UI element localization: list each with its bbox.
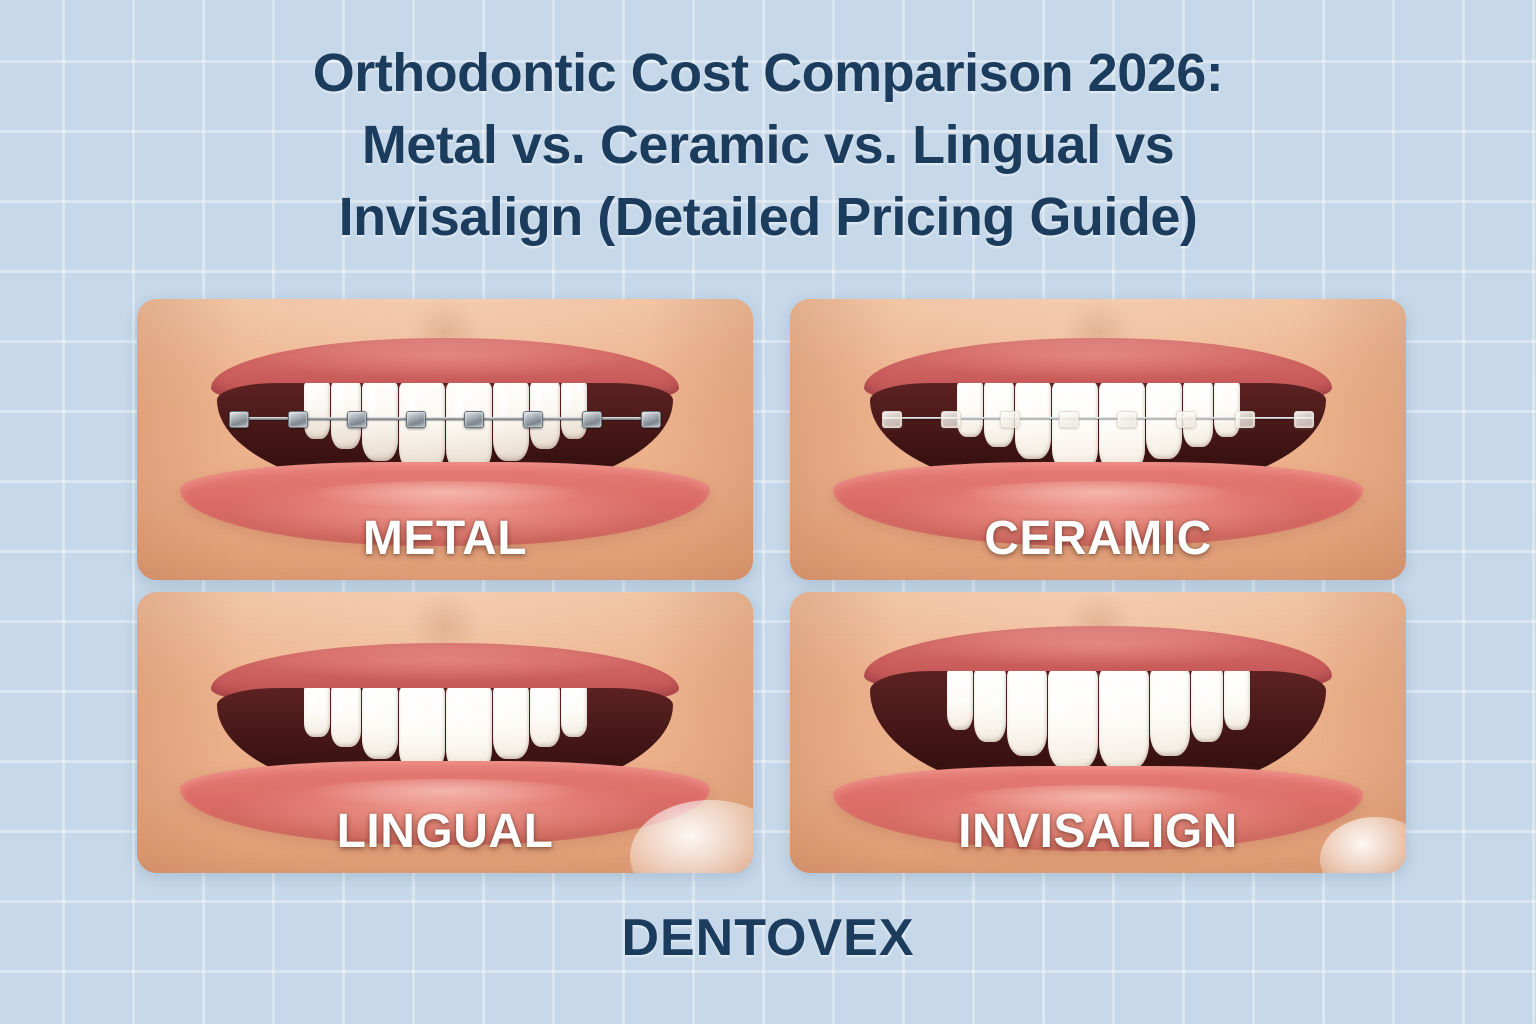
tooth (331, 688, 361, 748)
page-title-line-3: Invisalign (Detailed Pricing Guide) (0, 182, 1536, 254)
tooth (304, 688, 330, 738)
bracket-row (882, 400, 1313, 439)
bracket-icon (882, 411, 902, 428)
bracket-icon (1235, 411, 1255, 428)
tooth (1191, 671, 1223, 742)
page-title: Orthodontic Cost Comparison 2026: Metal … (0, 38, 1536, 253)
bracket-icon (523, 411, 543, 428)
comparison-card-lingual[interactable]: LINGUAL (137, 592, 753, 873)
bracket-icon (347, 411, 367, 428)
tooth (947, 671, 973, 730)
bracket-icon (1294, 411, 1314, 428)
tooth (974, 671, 1006, 742)
brand-name: DENTOVEX (0, 908, 1536, 968)
tooth (1150, 671, 1190, 756)
card-label-lingual: LINGUAL (137, 804, 753, 859)
comparison-card-invisalign[interactable]: INVISALIGN (790, 592, 1406, 873)
bracket-icon (464, 411, 484, 428)
card-label-metal: METAL (137, 511, 753, 566)
tooth (1048, 671, 1098, 770)
bracket-icon (582, 411, 602, 428)
bracket-icon (1059, 411, 1079, 428)
card-label-invisalign: INVISALIGN (790, 804, 1406, 859)
bracket-icon (641, 411, 661, 428)
page-title-line-1: Orthodontic Cost Comparison 2026: (0, 38, 1536, 110)
tooth (1224, 671, 1250, 730)
tooth (1007, 671, 1047, 756)
infographic-stage: Orthodontic Cost Comparison 2026: Metal … (0, 0, 1536, 1024)
tooth (530, 688, 560, 748)
page-title-line-2: Metal vs. Ceramic vs. Lingual vs (0, 110, 1536, 182)
bracket-icon (288, 411, 308, 428)
bracket-icon (1176, 411, 1196, 428)
bracket-icon (1117, 411, 1137, 428)
upper-teeth-row (226, 688, 664, 767)
tooth (561, 688, 587, 738)
card-label-ceramic: CERAMIC (790, 511, 1406, 566)
bracket-row (229, 400, 660, 439)
bracket-icon (941, 411, 961, 428)
comparison-card-grid: METAL (137, 299, 1406, 873)
tooth (362, 688, 398, 760)
bracket-icon (1000, 411, 1020, 428)
tooth (493, 688, 529, 760)
tooth (1099, 671, 1149, 770)
comparison-card-metal[interactable]: METAL (137, 299, 753, 580)
bracket-icon (406, 411, 426, 428)
bracket-icon (229, 411, 249, 428)
comparison-card-ceramic[interactable]: CERAMIC (790, 299, 1406, 580)
upper-teeth-row (879, 671, 1317, 761)
